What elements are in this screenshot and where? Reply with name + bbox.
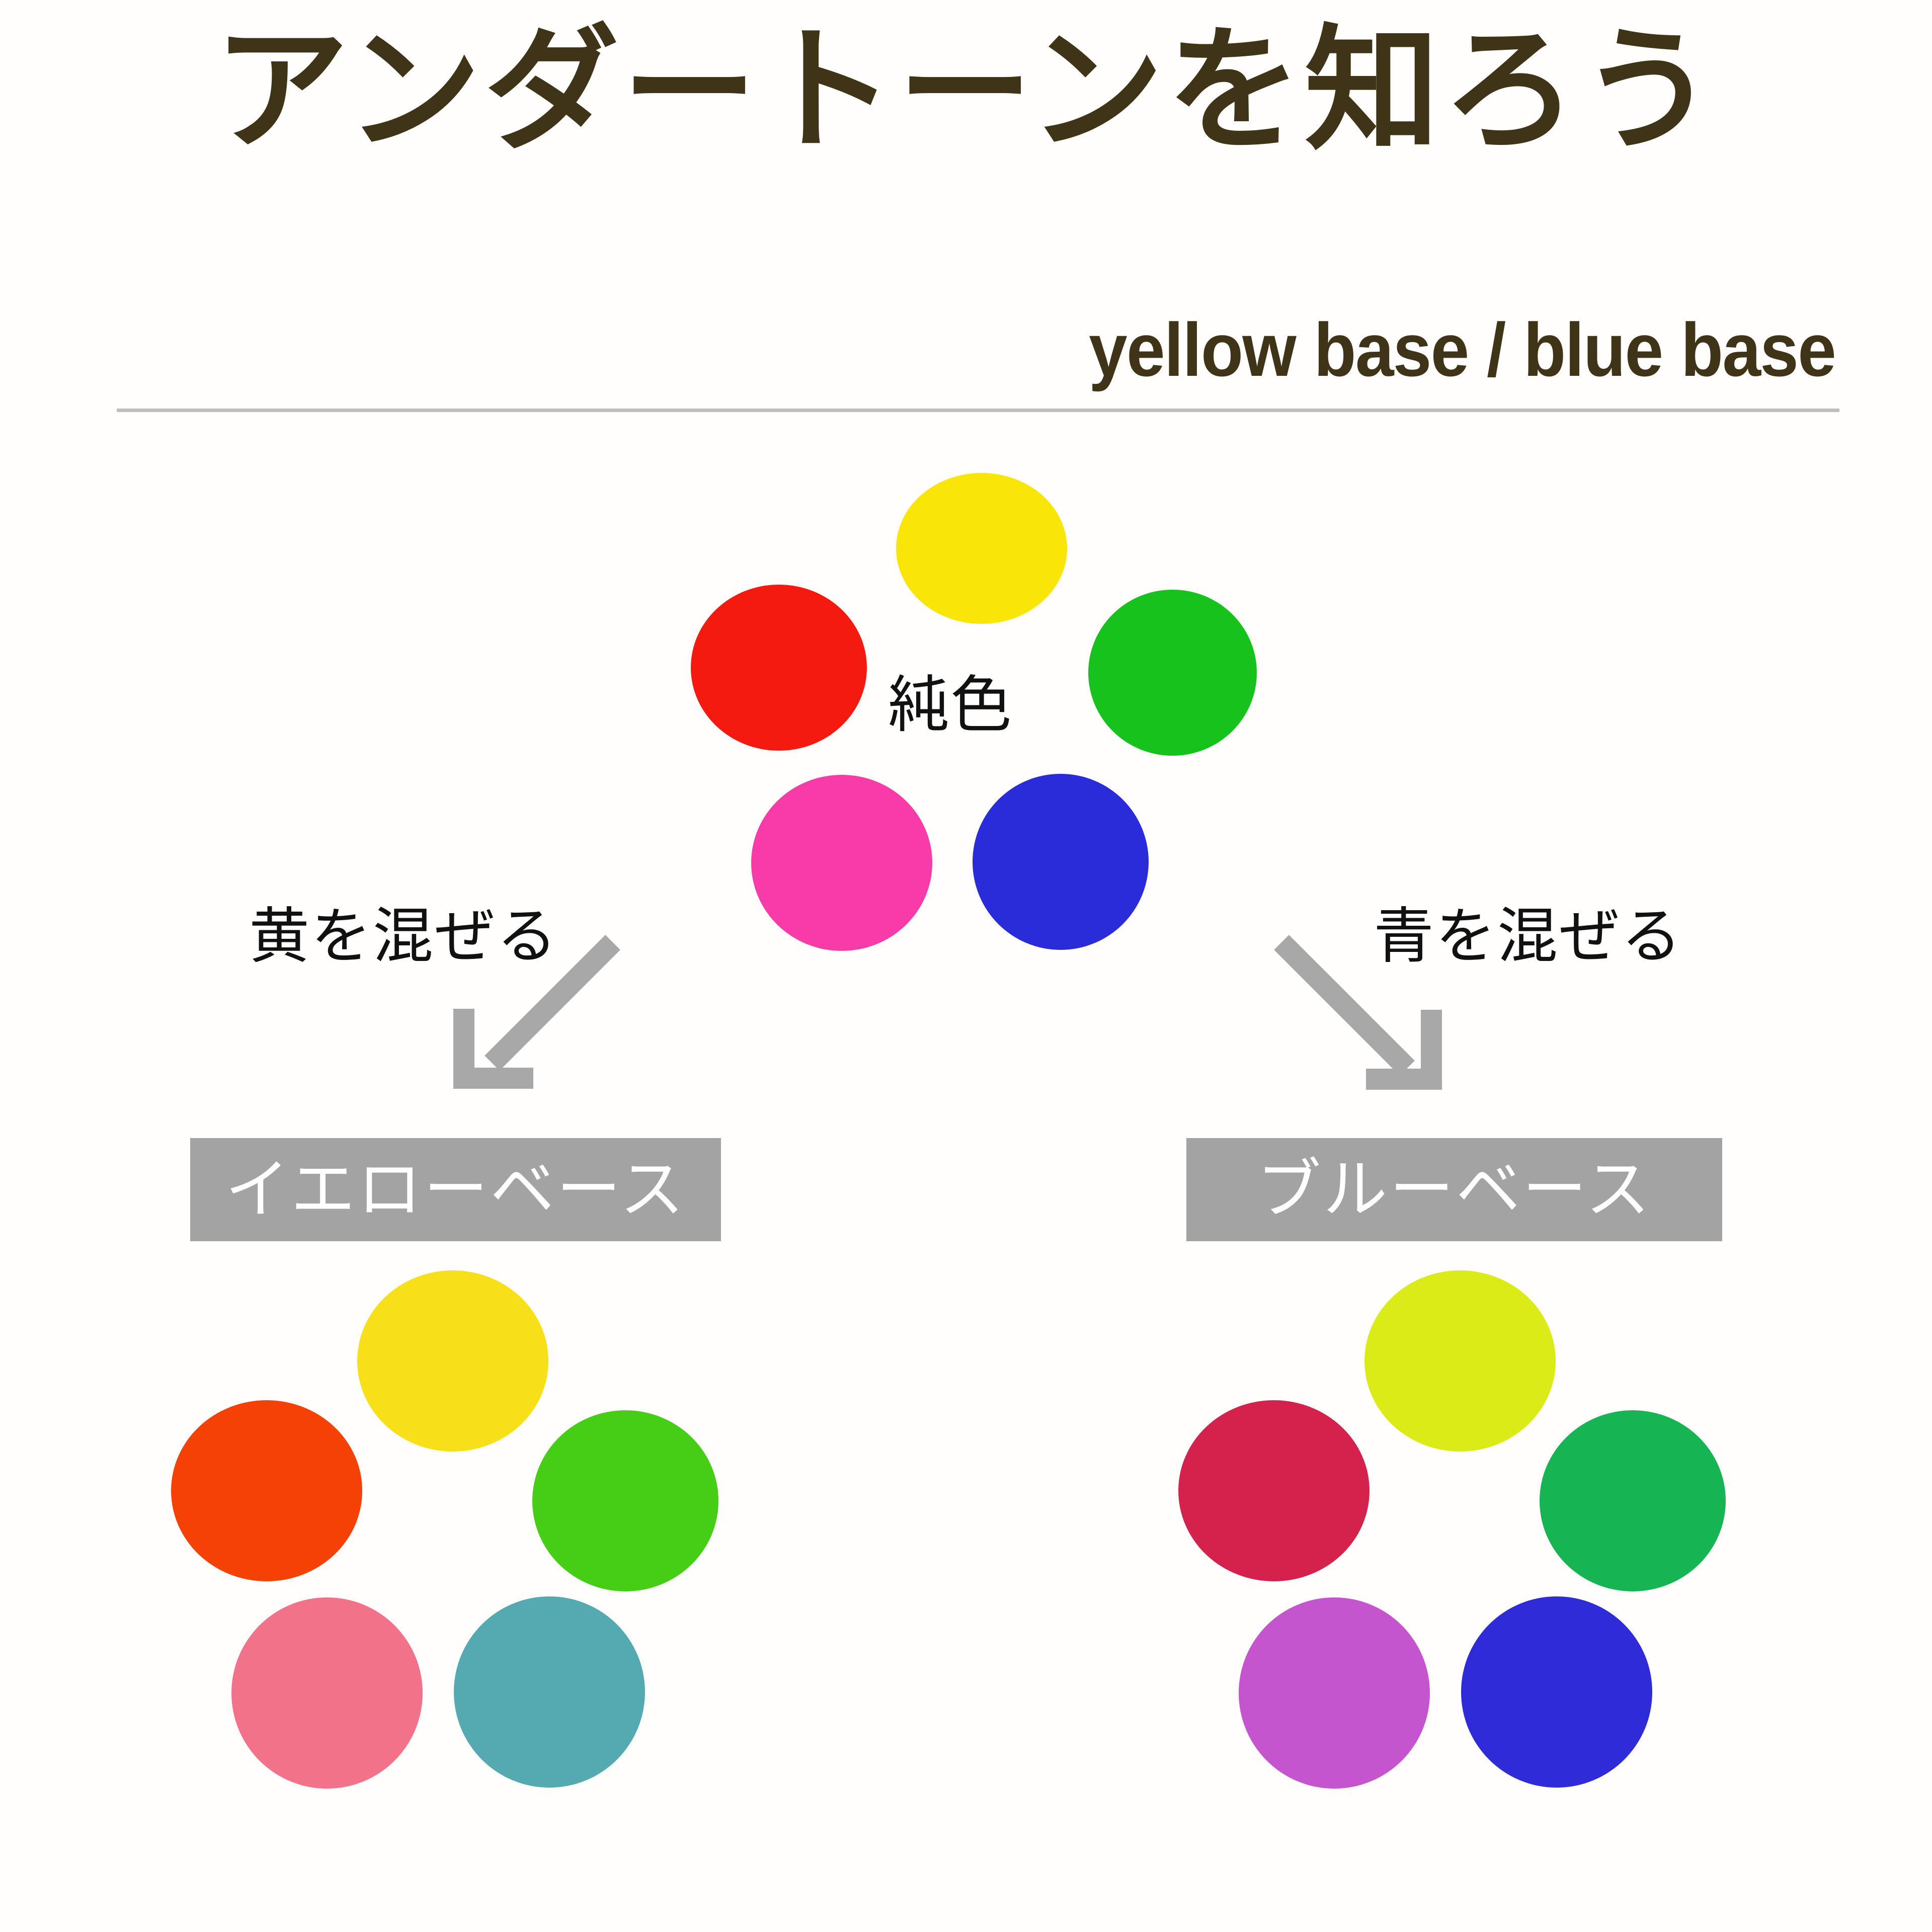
swatch-yeb-salmon-pink xyxy=(231,1597,423,1789)
swatch-pure-green xyxy=(1088,590,1257,756)
swatch-blb-crimson xyxy=(1178,1400,1370,1581)
page-title: アンダートーンを知ろう xyxy=(0,20,1932,162)
banner-yellow-base: イエローベース xyxy=(190,1138,721,1241)
swatch-blb-emerald xyxy=(1540,1410,1726,1591)
infographic-canvas: アンダートーンを知ろう yellow base / blue base 純色 黄… xyxy=(0,0,1932,1932)
page-subtitle: yellow base / blue base xyxy=(1089,312,1835,387)
yellow-base-cluster xyxy=(171,1270,714,1789)
swatch-blb-blue xyxy=(1461,1596,1652,1788)
header-divider xyxy=(117,409,1839,412)
swatch-yeb-yellow-green xyxy=(532,1410,718,1591)
swatch-yeb-orange-red xyxy=(171,1400,362,1581)
pure-color-label: 純色 xyxy=(888,674,1013,736)
swatch-pure-blue xyxy=(973,774,1149,950)
swatch-blb-orchid xyxy=(1239,1597,1430,1789)
swatch-pure-yellow xyxy=(896,473,1067,624)
banner-blue-base-label: ブルーベース xyxy=(1257,1158,1652,1222)
banner-yellow-base-label: イエローベース xyxy=(225,1158,686,1222)
swatch-yeb-yellow xyxy=(357,1270,548,1452)
blue-base-cluster xyxy=(1178,1270,1722,1789)
swatch-pure-magenta xyxy=(751,775,932,951)
swatch-blb-lemon-yellow xyxy=(1364,1270,1556,1452)
arrow-down-left-icon xyxy=(453,933,624,1099)
swatch-pure-red xyxy=(691,585,867,751)
arrow-down-right-icon xyxy=(1270,933,1452,1099)
pure-color-cluster: 純色 xyxy=(667,473,1285,1006)
banner-blue-base: ブルーベース xyxy=(1186,1138,1722,1241)
swatch-yeb-teal xyxy=(454,1596,645,1788)
